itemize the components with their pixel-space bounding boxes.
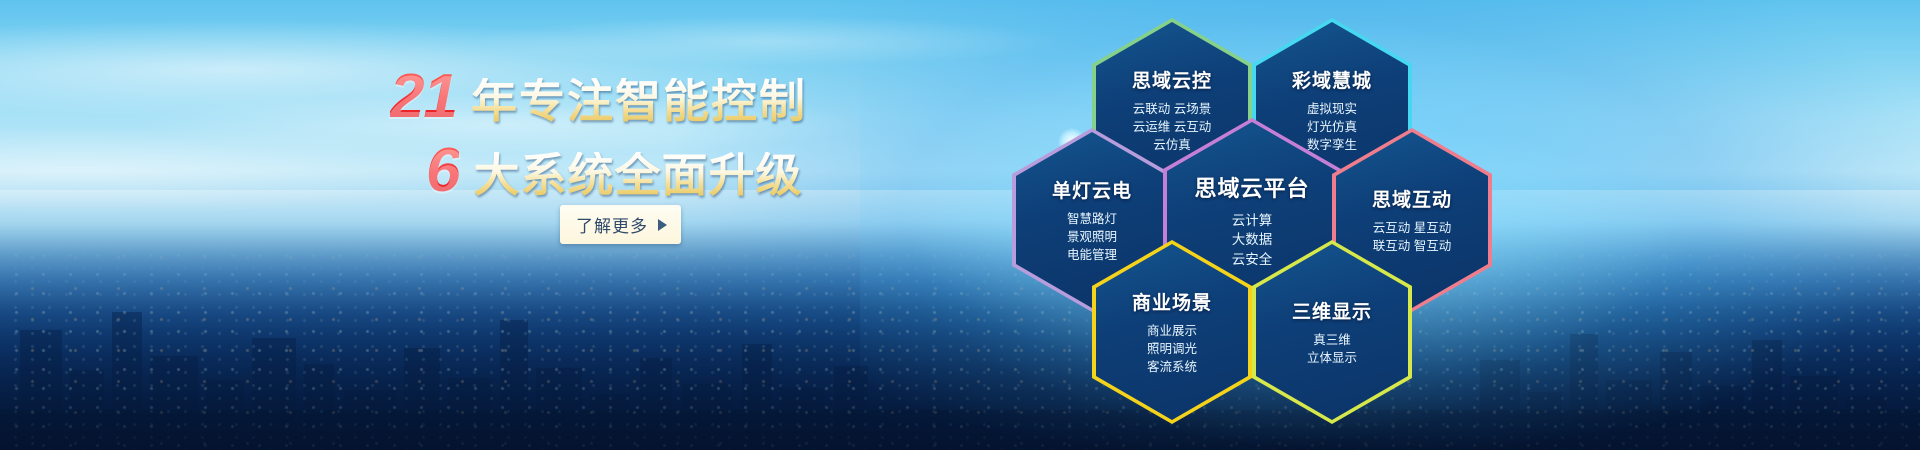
hexagon-content: 彩域慧城虚拟现实灯光仿真数字孪生 xyxy=(1284,66,1380,154)
hexagon-subtitle: 云互动 星互动联互动 智互动 xyxy=(1372,219,1452,255)
headline-text-2: 大系统全面升级 xyxy=(473,152,802,198)
hexagon-subtitle-line: 真三维 xyxy=(1292,331,1372,349)
headline-line-2: 6 大系统全面升级 xyxy=(390,140,810,202)
play-arrow-icon xyxy=(658,219,667,231)
learn-more-label: 了解更多 xyxy=(576,212,648,237)
hexagon-content: 商业场景商业展示照明调光客流系统 xyxy=(1124,288,1220,376)
hexagon-subtitle-line: 云联动 云场景 xyxy=(1132,100,1212,118)
hexagon-title: 三维显示 xyxy=(1292,297,1372,324)
hexagon-subtitle: 云联动 云场景云运维 云互动云仿真 xyxy=(1132,100,1212,154)
hexagon-subtitle-line: 智慧路灯 xyxy=(1052,210,1132,228)
hexagon-title: 思域互动 xyxy=(1372,185,1452,212)
headline-number-6: 6 xyxy=(426,140,459,202)
hexagon-content: 思域云控云联动 云场景云运维 云互动云仿真 xyxy=(1124,66,1220,154)
hexagon-title: 思域云控 xyxy=(1132,66,1212,93)
hexagon-title: 商业场景 xyxy=(1132,288,1212,315)
hexagon-title: 彩域慧城 xyxy=(1292,66,1372,93)
hexagon-subtitle-line: 虚拟现实 xyxy=(1292,100,1372,118)
hexagon-subtitle: 云计算大数据云安全 xyxy=(1194,211,1309,270)
hexagon-content: 单灯云电智慧路灯景观照明电能管理 xyxy=(1044,176,1140,264)
hexagon-subtitle: 商业展示照明调光客流系统 xyxy=(1132,322,1212,376)
hexagon-subtitle: 真三维立体显示 xyxy=(1292,331,1372,367)
hexagon-title: 思域云平台 xyxy=(1194,171,1309,203)
hexagon-subtitle: 虚拟现实灯光仿真数字孪生 xyxy=(1292,100,1372,154)
hexagon-subtitle-line: 商业展示 xyxy=(1132,322,1212,340)
hexagon-subtitle-line: 电能管理 xyxy=(1052,246,1132,264)
hexagon-subtitle-line: 灯光仿真 xyxy=(1292,118,1372,136)
hexagon-content: 三维显示真三维立体显示 xyxy=(1284,297,1380,367)
hexagon-subtitle-line: 照明调光 xyxy=(1132,340,1212,358)
headline-line-1: 21 年专注智能控制 xyxy=(390,66,810,128)
headline-block: 21 年专注智能控制 6 大系统全面升级 xyxy=(390,66,810,202)
hexagon-subtitle-line: 云计算 xyxy=(1194,211,1309,231)
hexagon-subtitle-line: 云互动 星互动 xyxy=(1372,219,1452,237)
hexagon-cluster: 思域云控云联动 云场景云运维 云互动云仿真彩域慧城虚拟现实灯光仿真数字孪生单灯云… xyxy=(980,0,1540,450)
hexagon-subtitle-line: 大数据 xyxy=(1194,230,1309,250)
hexagon-subtitle-line: 联互动 智互动 xyxy=(1372,237,1452,255)
learn-more-button[interactable]: 了解更多 xyxy=(560,205,681,244)
sky-background xyxy=(0,0,1920,450)
hexagon-content: 思域云平台云计算大数据云安全 xyxy=(1186,171,1317,270)
hexagon-subtitle-line: 景观照明 xyxy=(1052,228,1132,246)
headline-text-1: 年专注智能控制 xyxy=(471,78,807,124)
hexagon-subtitle-line: 立体显示 xyxy=(1292,349,1372,367)
hexagon-subtitle-line: 云运维 云互动 xyxy=(1132,118,1212,136)
hero-banner: 21 年专注智能控制 6 大系统全面升级 了解更多 思域云控云联动 云场景云运维… xyxy=(0,0,1920,450)
hexagon-subtitle: 智慧路灯景观照明电能管理 xyxy=(1052,210,1132,264)
headline-number-21: 21 xyxy=(390,66,457,128)
hexagon-content: 思域互动云互动 星互动联互动 智互动 xyxy=(1364,185,1460,255)
hexagon-title: 单灯云电 xyxy=(1052,176,1132,203)
hexagon-subtitle-line: 客流系统 xyxy=(1132,358,1212,376)
